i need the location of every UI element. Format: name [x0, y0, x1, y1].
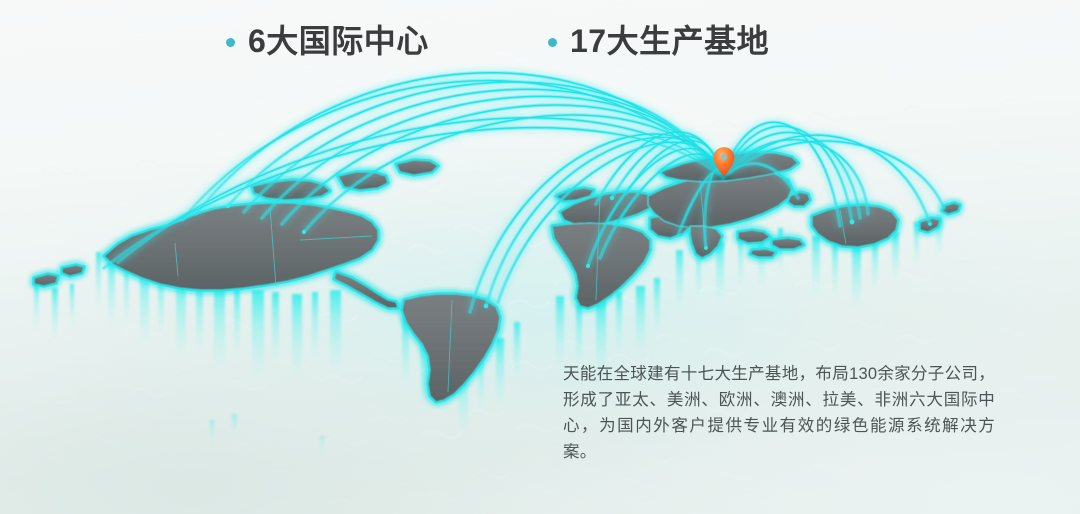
bullet-dot-icon: [226, 38, 235, 47]
headline-international-centers-label: 6大国际中心: [248, 25, 429, 57]
headline-international-centers: 6大国际中心: [226, 25, 429, 57]
global-map-banner: 6大国际中心 17大生产基地 天能在全球建有十七大生产基地，布局130余家分子公…: [0, 0, 1080, 514]
headline-group: 6大国际中心 17大生产基地: [0, 25, 1080, 71]
map-pin-icon: [712, 146, 736, 180]
arc-endpoint-nodes: [226, 196, 932, 309]
headline-production-bases: 17大生产基地: [548, 25, 769, 57]
bullet-dot-icon: [548, 38, 557, 47]
headline-production-bases-label: 17大生产基地: [570, 25, 769, 57]
description-paragraph: 天能在全球建有十七大生产基地，布局130余家分子公司，形成了亚太、美洲、欧洲、澳…: [563, 361, 995, 465]
